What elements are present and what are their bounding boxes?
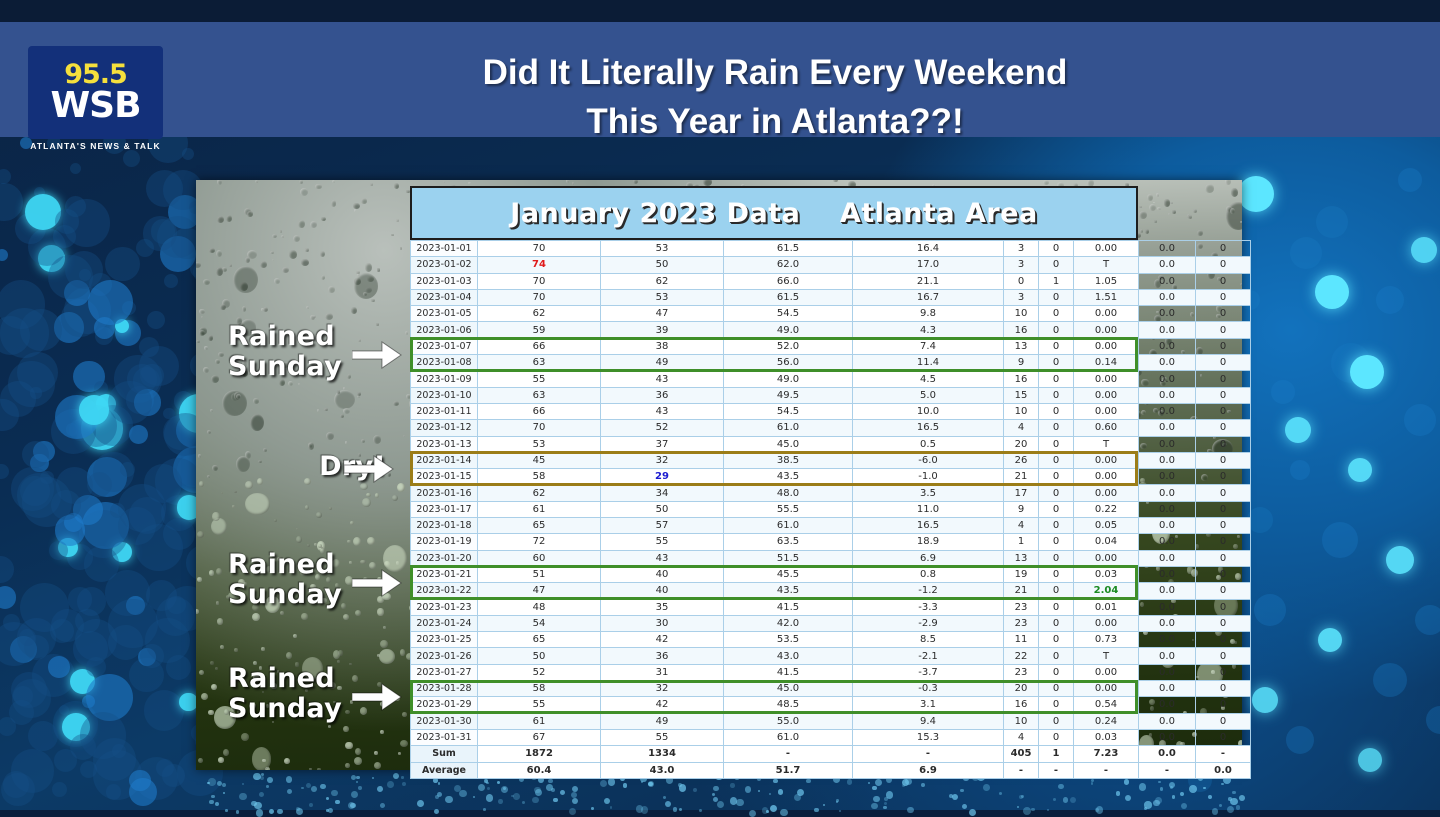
table-cell: 0: [1039, 322, 1074, 338]
table-row: 2023-01-12705261.016.5400.600.00: [411, 420, 1251, 436]
table-cell: 0.0: [1139, 729, 1196, 745]
table-cell: 23: [1004, 664, 1039, 680]
table-cell: 0.14: [1074, 355, 1139, 371]
annotation-line1: Rained: [228, 664, 368, 694]
table-cell: 55: [478, 371, 601, 387]
table-cell: 0.0: [1139, 485, 1196, 501]
table-cell: 0: [1039, 469, 1074, 485]
table-cell: 61.0: [724, 518, 853, 534]
table-cell-date: 2023-01-19: [411, 534, 478, 550]
table-cell: 1334: [601, 746, 724, 762]
table-cell: 17: [1004, 485, 1039, 501]
table-cell: 0.00: [1074, 550, 1139, 566]
table-cell: 49.0: [724, 322, 853, 338]
table-cell: 5.0: [853, 387, 1004, 403]
table-cell: 0.0: [1139, 583, 1196, 599]
table-cell: 21: [1004, 469, 1039, 485]
table-cell-date: 2023-01-28: [411, 681, 478, 697]
table-cell: 11.0: [853, 501, 1004, 517]
table-cell: 0.0: [1139, 681, 1196, 697]
table-cell: 16: [1004, 371, 1039, 387]
table-row: 2023-01-11664354.510.01000.000.00: [411, 403, 1251, 419]
table-cell: 26: [1004, 452, 1039, 468]
table-cell: 15.3: [853, 729, 1004, 745]
table-cell: 43: [601, 550, 724, 566]
table-cell: 11.4: [853, 355, 1004, 371]
table-cell: 48: [478, 599, 601, 615]
table-cell: 0: [1039, 403, 1074, 419]
wsb-logo: 95.5 WSB: [28, 46, 163, 139]
annotation-line2: Sunday: [228, 352, 368, 382]
table-cell: 32: [601, 452, 724, 468]
table-cell: 10.0: [853, 403, 1004, 419]
table-cell: 3: [1004, 257, 1039, 273]
table-cell: 43: [601, 371, 724, 387]
table-cell: 54.5: [724, 306, 853, 322]
table-cell: 72: [478, 534, 601, 550]
table-row: 2023-01-16623448.03.51700.000.00: [411, 485, 1251, 501]
table-cell: 10: [1004, 713, 1039, 729]
table-cell: 0.00: [1074, 615, 1139, 631]
table-cell: -: [1074, 762, 1139, 778]
table-cell: 20: [1004, 681, 1039, 697]
table-cell: -1.0: [853, 469, 1004, 485]
table-cell: 63.5: [724, 534, 853, 550]
page-title-line1: Did It Literally Rain Every Weekend: [200, 48, 1350, 97]
table-cell: 22: [1004, 648, 1039, 664]
table-cell: 0: [1196, 387, 1251, 403]
table-cell: 4.5: [853, 371, 1004, 387]
table-row: 2023-01-04705361.516.7301.510.00: [411, 289, 1251, 305]
table-row: Average60.443.051.76.9----0.0: [411, 762, 1251, 778]
table-cell: 0: [1039, 420, 1074, 436]
table-cell: 0.22: [1074, 501, 1139, 517]
table-row: 2023-01-30614955.09.41000.240.00: [411, 713, 1251, 729]
table-cell: 13: [1004, 550, 1039, 566]
table-cell: -1.2: [853, 583, 1004, 599]
table-cell: 51.5: [724, 550, 853, 566]
table-row: 2023-01-18655761.016.5400.050.00: [411, 518, 1251, 534]
table-cell: 49.5: [724, 387, 853, 403]
table-cell: 7.23: [1074, 746, 1139, 762]
table-cell: 47: [601, 306, 724, 322]
table-cell: 0.0: [1139, 632, 1196, 648]
table-row: 2023-01-14453238.5-6.02600.000.00: [411, 452, 1251, 468]
table-cell: 0: [1196, 452, 1251, 468]
annotation-line1: Rained: [228, 550, 368, 580]
table-cell: 21: [1004, 583, 1039, 599]
table-cell: 3: [1004, 289, 1039, 305]
table-cell: 0.0: [1139, 420, 1196, 436]
table-cell: 0.00: [1074, 403, 1139, 419]
table-cell: 0.00: [1074, 664, 1139, 680]
table-cell: 0.00: [1074, 322, 1139, 338]
table-cell: 0.03: [1074, 729, 1139, 745]
table-row: 2023-01-02745062.017.030T0.00: [411, 257, 1251, 273]
table-cell: 0.0: [1139, 648, 1196, 664]
table-cell-date: 2023-01-04: [411, 289, 478, 305]
table-cell: 20: [1004, 436, 1039, 452]
table-cell-date: 2023-01-22: [411, 583, 478, 599]
table-row: 2023-01-13533745.00.5200T0.00: [411, 436, 1251, 452]
table-cell: 0.00: [1074, 452, 1139, 468]
table-cell: 0: [1039, 713, 1074, 729]
table-cell: 0: [1196, 729, 1251, 745]
table-cell: 43.0: [601, 762, 724, 778]
table-cell: 66.0: [724, 273, 853, 289]
table-cell: -: [853, 746, 1004, 762]
table-cell-date: 2023-01-17: [411, 501, 478, 517]
table-cell-date: Average: [411, 762, 478, 778]
table-cell: 52: [601, 420, 724, 436]
table-cell: 0.00: [1074, 387, 1139, 403]
table-cell-date: 2023-01-01: [411, 241, 478, 257]
table-cell: 74: [478, 257, 601, 273]
table-cell: 0: [1196, 697, 1251, 713]
table-cell: 0.0: [1139, 534, 1196, 550]
logo-callsign: WSB: [50, 88, 140, 123]
annotation-arrow-4: [352, 680, 402, 714]
table-cell: 15: [1004, 387, 1039, 403]
annotation-arrow-2: [344, 452, 394, 486]
table-cell: 61.5: [724, 241, 853, 257]
table-cell: 16.7: [853, 289, 1004, 305]
table-cell-date: Sum: [411, 746, 478, 762]
annotation-line2: Sunday: [228, 580, 368, 610]
table-row: 2023-01-01705361.516.4300.000.00: [411, 241, 1251, 257]
table-cell: 0: [1039, 338, 1074, 354]
annotation-1: RainedSunday: [228, 322, 368, 382]
table-cell: 67: [478, 729, 601, 745]
table-cell: 0: [1196, 615, 1251, 631]
table-cell: 3.1: [853, 697, 1004, 713]
table-cell: 1: [1004, 534, 1039, 550]
table-cell: 0: [1039, 599, 1074, 615]
annotation-arrow-3: [352, 566, 402, 600]
table-cell: 0: [1039, 632, 1074, 648]
table-cell: 0.0: [1139, 501, 1196, 517]
table-cell: 0: [1196, 306, 1251, 322]
table-cell-date: 2023-01-10: [411, 387, 478, 403]
table-cell: 9.8: [853, 306, 1004, 322]
table-cell: 45: [478, 452, 601, 468]
table-row: 2023-01-24543042.0-2.92300.000.00: [411, 615, 1251, 631]
table-cell: 61.0: [724, 420, 853, 436]
table-cell: 56.0: [724, 355, 853, 371]
table-cell-date: 2023-01-11: [411, 403, 478, 419]
table-cell: 50: [478, 648, 601, 664]
table-cell: 31: [601, 664, 724, 680]
table-cell: 13: [1004, 338, 1039, 354]
table-cell: 6.9: [853, 550, 1004, 566]
table-cell: 59: [478, 322, 601, 338]
table-cell: 0.54: [1074, 697, 1139, 713]
table-cell: 0: [1196, 355, 1251, 371]
table-cell: 52.0: [724, 338, 853, 354]
table-cell: 0.0: [1139, 403, 1196, 419]
table-cell: 43.5: [724, 583, 853, 599]
table-cell-date: 2023-01-23: [411, 599, 478, 615]
table-cell: 0: [1039, 583, 1074, 599]
table-cell: 42: [601, 632, 724, 648]
table-cell: 4: [1004, 729, 1039, 745]
table-cell-date: 2023-01-08: [411, 355, 478, 371]
table-cell: 49: [601, 355, 724, 371]
table-cell: 0.5: [853, 436, 1004, 452]
table-cell: 51.7: [724, 762, 853, 778]
table-cell: 60.4: [478, 762, 601, 778]
table-cell: -2.1: [853, 648, 1004, 664]
table-cell: 0: [1196, 322, 1251, 338]
table-cell: 0: [1039, 452, 1074, 468]
table-cell: 45.0: [724, 681, 853, 697]
table-caption-bar: January 2023 Data Atlanta Area: [410, 186, 1138, 240]
table-cell: 0.0: [1139, 664, 1196, 680]
table-cell: -3.7: [853, 664, 1004, 680]
table-cell: 0.0: [1139, 355, 1196, 371]
table-cell: 0: [1196, 566, 1251, 582]
table-cell: 0.00: [1074, 681, 1139, 697]
table-cell-date: 2023-01-13: [411, 436, 478, 452]
table-cell: 4: [1004, 518, 1039, 534]
table-cell: 70: [478, 241, 601, 257]
table-cell: 0.0: [1139, 615, 1196, 631]
table-cell: 65: [478, 632, 601, 648]
table-cell: 0: [1039, 729, 1074, 745]
table-cell: T: [1074, 648, 1139, 664]
table-cell: 70: [478, 289, 601, 305]
table-cell: 0: [1039, 306, 1074, 322]
table-cell: 38: [601, 338, 724, 354]
table-row: 2023-01-28583245.0-0.32000.000.00: [411, 681, 1251, 697]
table-cell: 55.5: [724, 501, 853, 517]
table-cell: -: [1196, 746, 1251, 762]
table-cell-date: 2023-01-12: [411, 420, 478, 436]
table-cell: 62: [478, 485, 601, 501]
table-cell: 11: [1004, 632, 1039, 648]
table-cell: 0: [1196, 518, 1251, 534]
table-cell: -2.9: [853, 615, 1004, 631]
table-cell-date: 2023-01-16: [411, 485, 478, 501]
table-cell: 0.0: [1139, 518, 1196, 534]
table-cell: 54: [478, 615, 601, 631]
table-row: 2023-01-20604351.56.91300.000.00: [411, 550, 1251, 566]
table-cell: 4: [1004, 420, 1039, 436]
table-cell: 0: [1196, 485, 1251, 501]
page-title: Did It Literally Rain Every Weekend This…: [200, 48, 1350, 146]
table-cell: 0: [1039, 550, 1074, 566]
table-cell: 23: [1004, 599, 1039, 615]
table-cell: 0.01: [1074, 599, 1139, 615]
table-cell: 0: [1196, 420, 1251, 436]
table-caption: January 2023 Data Atlanta Area: [510, 198, 1037, 229]
table-cell: 60: [478, 550, 601, 566]
table-cell: 0: [1196, 257, 1251, 273]
table-cell: 0: [1004, 273, 1039, 289]
table-cell: 0.00: [1074, 485, 1139, 501]
table-cell: 0: [1196, 436, 1251, 452]
table-cell: 0.04: [1074, 534, 1139, 550]
table-row: 2023-01-09554349.04.51600.000.00: [411, 371, 1251, 387]
table-cell: 0: [1196, 681, 1251, 697]
table-cell: 0: [1039, 518, 1074, 534]
table-cell: 0: [1196, 632, 1251, 648]
table-cell: 57: [601, 518, 724, 534]
table-cell-date: 2023-01-07: [411, 338, 478, 354]
table-cell: 55: [478, 697, 601, 713]
table-cell: 0.0: [1139, 322, 1196, 338]
table-cell: 61: [478, 501, 601, 517]
table-cell: 2.04: [1074, 583, 1139, 599]
table-cell: 0: [1196, 501, 1251, 517]
table-cell: 0: [1039, 436, 1074, 452]
table-cell: 53.5: [724, 632, 853, 648]
table-cell: 16.5: [853, 420, 1004, 436]
table-cell: 16: [1004, 697, 1039, 713]
table-cell: 0.05: [1074, 518, 1139, 534]
table-cell: 43: [601, 403, 724, 419]
table-cell: 66: [478, 403, 601, 419]
table-cell: 0: [1039, 257, 1074, 273]
table-cell: 53: [478, 436, 601, 452]
table-cell: 40: [601, 566, 724, 582]
table-cell: 0.0: [1139, 257, 1196, 273]
table-cell: 1.51: [1074, 289, 1139, 305]
table-cell-date: 2023-01-26: [411, 648, 478, 664]
table-cell: 63: [478, 355, 601, 371]
table-cell: 0.0: [1139, 338, 1196, 354]
table-row: 2023-01-25654253.58.51100.730.00: [411, 632, 1251, 648]
header-band: 95.5 WSB ATLANTA'S NEWS & TALK Did It Li…: [0, 22, 1440, 137]
table-cell: 41.5: [724, 599, 853, 615]
table-cell-date: 2023-01-27: [411, 664, 478, 680]
table-cell: 0.0: [1139, 436, 1196, 452]
table-cell: 0: [1039, 566, 1074, 582]
table-cell: 49.0: [724, 371, 853, 387]
table-cell: 51: [478, 566, 601, 582]
table-cell: 29: [601, 469, 724, 485]
table-cell: 0.0: [1139, 371, 1196, 387]
table-cell: 0: [1039, 501, 1074, 517]
table-cell: 0: [1196, 583, 1251, 599]
table-row: 2023-01-31675561.015.3400.030.00: [411, 729, 1251, 745]
table-cell: 45.5: [724, 566, 853, 582]
table-cell: 0: [1039, 485, 1074, 501]
table-cell: 10: [1004, 403, 1039, 419]
logo-tagline: ATLANTA'S NEWS & TALK: [28, 141, 163, 151]
table-cell: 0: [1039, 664, 1074, 680]
annotation-line1: Rained: [228, 322, 368, 352]
table-cell-date: 2023-01-18: [411, 518, 478, 534]
table-cell-date: 2023-01-31: [411, 729, 478, 745]
table-cell: 0: [1039, 371, 1074, 387]
table-cell: 36: [601, 387, 724, 403]
table-cell: 0.00: [1074, 338, 1139, 354]
table-row: 2023-01-23483541.5-3.32300.010.00: [411, 599, 1251, 615]
table-cell: 17.0: [853, 257, 1004, 273]
table-cell: 48.5: [724, 697, 853, 713]
table-cell: 0: [1196, 664, 1251, 680]
table-cell: 0: [1039, 615, 1074, 631]
table-row: 2023-01-07663852.07.41300.000.00: [411, 338, 1251, 354]
table-cell: 9: [1004, 501, 1039, 517]
table-cell: 0.03: [1074, 566, 1139, 582]
table-cell: 405: [1004, 746, 1039, 762]
weather-data-table-panel: January 2023 Data Atlanta Area 2023-01-0…: [410, 186, 1138, 770]
page-title-line2: This Year in Atlanta??!: [200, 97, 1350, 146]
table-cell: 70: [478, 420, 601, 436]
table-cell: 0.60: [1074, 420, 1139, 436]
table-cell: 0.0: [1139, 599, 1196, 615]
annotation-arrow-1: [352, 338, 402, 372]
table-cell: 16.5: [853, 518, 1004, 534]
table-cell: 0.0: [1139, 469, 1196, 485]
table-cell: 34: [601, 485, 724, 501]
table-cell: T: [1074, 436, 1139, 452]
table-cell: 21.1: [853, 273, 1004, 289]
weather-data-table: 2023-01-01705361.516.4300.000.002023-01-…: [410, 240, 1251, 779]
table-cell: 0: [1039, 387, 1074, 403]
table-cell-date: 2023-01-02: [411, 257, 478, 273]
table-cell: -: [1139, 762, 1196, 778]
table-cell: 62: [478, 306, 601, 322]
table-cell: 19: [1004, 566, 1039, 582]
table-row: Sum18721334--40517.230.0-: [411, 746, 1251, 762]
table-row: 2023-01-05624754.59.81000.000.00: [411, 306, 1251, 322]
table-cell: 45.0: [724, 436, 853, 452]
table-cell: 9.4: [853, 713, 1004, 729]
table-cell: 42: [601, 697, 724, 713]
table-cell: 35: [601, 599, 724, 615]
annotation-line2: Sunday: [228, 694, 368, 724]
table-row: 2023-01-10633649.55.01500.000.00: [411, 387, 1251, 403]
table-cell: 41.5: [724, 664, 853, 680]
table-row: 2023-01-27523141.5-3.72300.000.00: [411, 664, 1251, 680]
table-cell: 0: [1039, 241, 1074, 257]
table-cell: 53: [601, 241, 724, 257]
table-cell: 0.24: [1074, 713, 1139, 729]
table-cell: 55: [601, 729, 724, 745]
table-cell: 0: [1039, 697, 1074, 713]
table-cell: 0: [1196, 289, 1251, 305]
table-cell: 49: [601, 713, 724, 729]
table-cell: 0.0: [1139, 387, 1196, 403]
table-row: 2023-01-15582943.5-1.02100.000.00: [411, 469, 1251, 485]
table-cell: 0: [1039, 355, 1074, 371]
annotation-4: RainedSunday: [228, 664, 368, 724]
table-cell: 0: [1196, 273, 1251, 289]
table-cell: 0: [1196, 403, 1251, 419]
table-cell: 50: [601, 257, 724, 273]
table-cell: 0: [1039, 289, 1074, 305]
table-cell: 0: [1196, 713, 1251, 729]
table-cell: 32: [601, 681, 724, 697]
table-cell: -3.3: [853, 599, 1004, 615]
table-cell: 7.4: [853, 338, 1004, 354]
table-cell: 0: [1196, 599, 1251, 615]
table-cell: 36: [601, 648, 724, 664]
table-cell: 0: [1196, 338, 1251, 354]
table-cell: 0: [1039, 681, 1074, 697]
table-cell: 55.0: [724, 713, 853, 729]
table-cell: 61.5: [724, 289, 853, 305]
table-row: 2023-01-03706266.021.1011.050.00: [411, 273, 1251, 289]
table-cell: 62.0: [724, 257, 853, 273]
table-cell: 0.0: [1139, 566, 1196, 582]
table-cell-date: 2023-01-09: [411, 371, 478, 387]
table-cell: 3: [1004, 241, 1039, 257]
table-cell-date: 2023-01-30: [411, 713, 478, 729]
